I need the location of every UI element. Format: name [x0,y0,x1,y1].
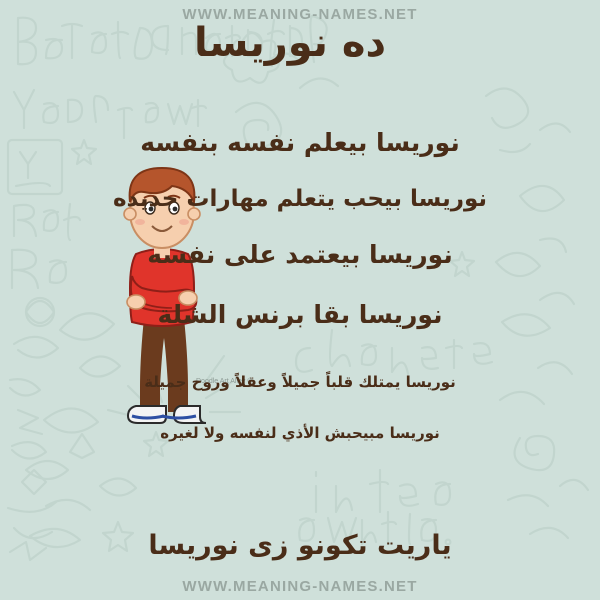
trait-line-5: نوريسا يمتلك قلباً جميلاً وعقلاً وروح جم… [0,373,600,391]
name-title: ده نوريسا [0,20,600,66]
trait-line-6: نوريسا مبيحبش الأذي لنفسه ولا لغيره [0,424,600,442]
trait-line-4: نوريسا بقا برنس الشلة [0,300,600,329]
trait-line-1: نوريسا بيعلم نفسه بنفسه [0,128,600,157]
trait-line-3: نوريسا بيعتمد على نفسه [0,240,600,269]
trait-line-2: نوريسا بيحب يتعلم مهارات جديده [0,186,600,212]
watermark-bottom: WWW.MEANING-NAMES.NET [0,578,600,595]
text-lines: ده نوريسا نوريسا بيعلم نفسه بنفسه نوريسا… [0,0,600,600]
watermark-top: WWW.MEANING-NAMES.NET [0,6,600,23]
name-card: Doodle Art Alley © WWW.MEANING-NAMES.NET… [0,0,600,600]
closing-line: ياريت تكونو زى نوريسا [0,530,600,561]
